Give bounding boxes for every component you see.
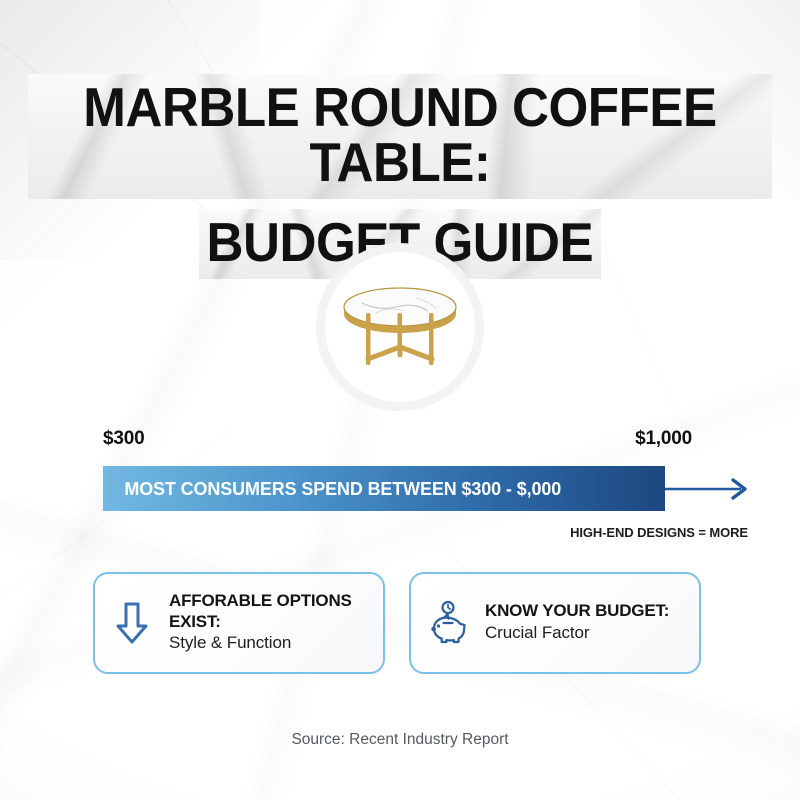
price-range-bar: MOST CONSUMERS SPEND BETWEEN $300 - $,00… [103,466,665,511]
card-subtitle: Style & Function [169,632,369,655]
info-card-know-your-budget: KNOW YOUR BUDGET: Crucial Factor [409,572,701,674]
price-range-bar-label: MOST CONSUMERS SPEND BETWEEN $300 - $,00… [103,478,561,500]
down-arrow-icon [112,600,152,646]
piggy-bank-icon [424,600,472,646]
source-caption: Source: Recent Industry Report [0,731,800,749]
card-icon-slot [411,600,485,646]
info-card-affordable-options: AFFORABLE OPTIONS EXIST: Style & Functio… [93,572,385,674]
price-low-label: $300 [103,428,144,450]
card-subtitle: Crucial Factor [485,622,685,645]
range-arrow-icon [665,478,763,500]
card-title: AFFORABLE OPTIONS EXIST: [169,591,369,632]
title-line-1: MARBLE ROUND COFFEE TABLE: [28,74,772,199]
infographic-canvas: MARBLE ROUND COFFEE TABLE: BUDGET GUIDE … [0,0,800,800]
card-title: KNOW YOUR BUDGET: [485,601,685,621]
high-end-note: HIGH-END DESIGNS = MORE [400,525,748,540]
card-text-block: KNOW YOUR BUDGET: Crucial Factor [485,601,699,644]
price-high-label: $1,000 [452,428,692,450]
card-text-block: AFFORABLE OPTIONS EXIST: Style & Functio… [169,591,383,655]
marble-round-coffee-table-icon [316,243,484,411]
card-icon-slot [95,600,169,646]
